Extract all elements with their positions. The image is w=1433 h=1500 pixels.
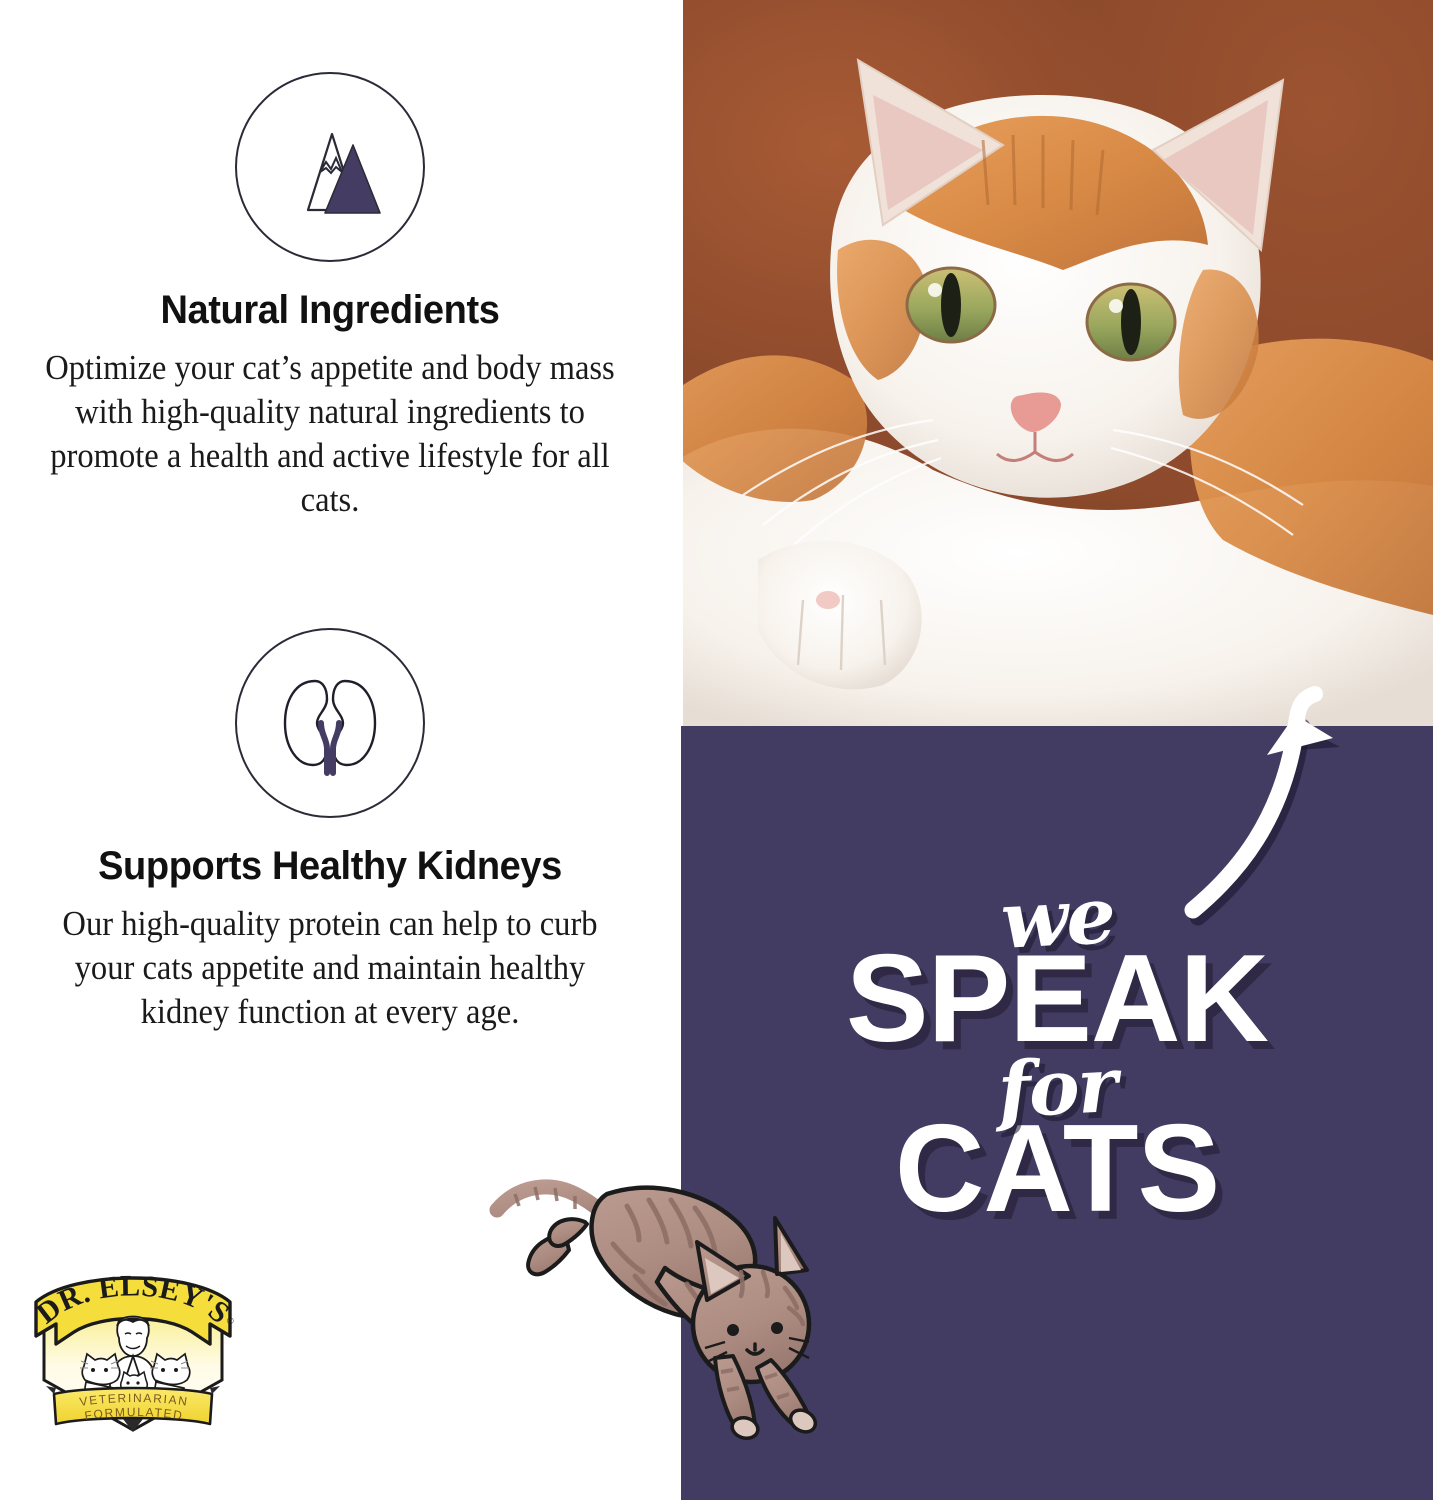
brand-logo: DR. ELSEY'S ® xyxy=(14,1262,252,1438)
leaping-cat-illustration xyxy=(489,1172,834,1440)
kidney-icon xyxy=(235,628,425,818)
feature-body: Our high-quality protein can help to cur… xyxy=(32,902,627,1034)
feature-body: Optimize your cat’s appetite and body ma… xyxy=(32,346,627,522)
feature-natural-ingredients: Natural Ingredients Optimize your cat’s … xyxy=(0,72,660,522)
cat-photo-subject xyxy=(683,0,1433,726)
tagline-for: for xyxy=(996,1047,1117,1129)
product-infographic: Natural Ingredients Optimize your cat’s … xyxy=(0,0,1433,1500)
cat-photo xyxy=(683,0,1433,726)
registered-mark: ® xyxy=(227,1316,234,1326)
feature-supports-healthy-kidneys: Supports Healthy Kidneys Our high-qualit… xyxy=(0,628,660,1034)
feature-title: Natural Ingredients xyxy=(17,288,644,332)
mountain-icon xyxy=(235,72,425,262)
feature-title: Supports Healthy Kidneys xyxy=(17,844,644,888)
tagline-we: we xyxy=(999,877,1116,961)
